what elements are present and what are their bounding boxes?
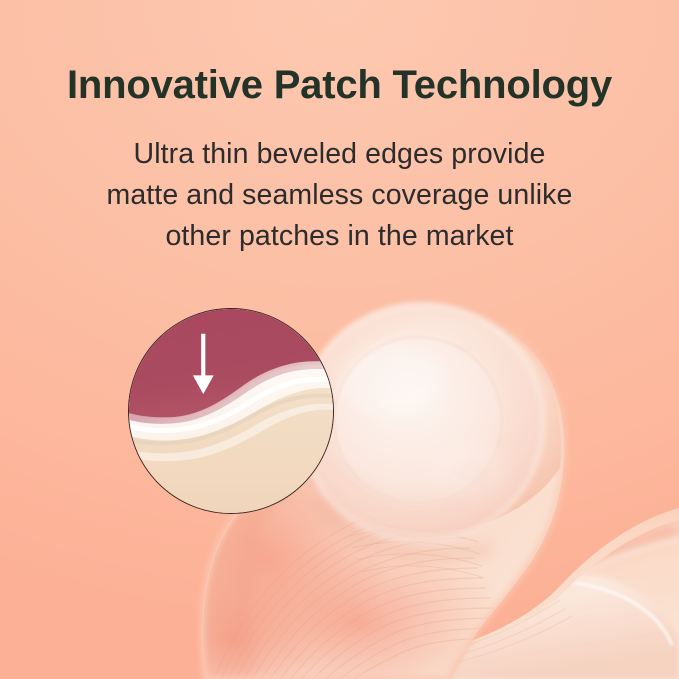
subtitle-line-2: matte and seamless coverage unlike [0, 175, 679, 216]
page-title: Innovative Patch Technology [0, 60, 679, 110]
subtitle-line-3: other patches in the market [0, 216, 679, 257]
subtitle-block: Ultra thin beveled edges provide matte a… [0, 134, 679, 257]
cross-section-inset [128, 308, 334, 514]
subtitle-line-1: Ultra thin beveled edges provide [0, 134, 679, 175]
cross-section-svg [129, 309, 333, 513]
marketing-graphic: Innovative Patch Technology Ultra thin b… [0, 0, 679, 679]
